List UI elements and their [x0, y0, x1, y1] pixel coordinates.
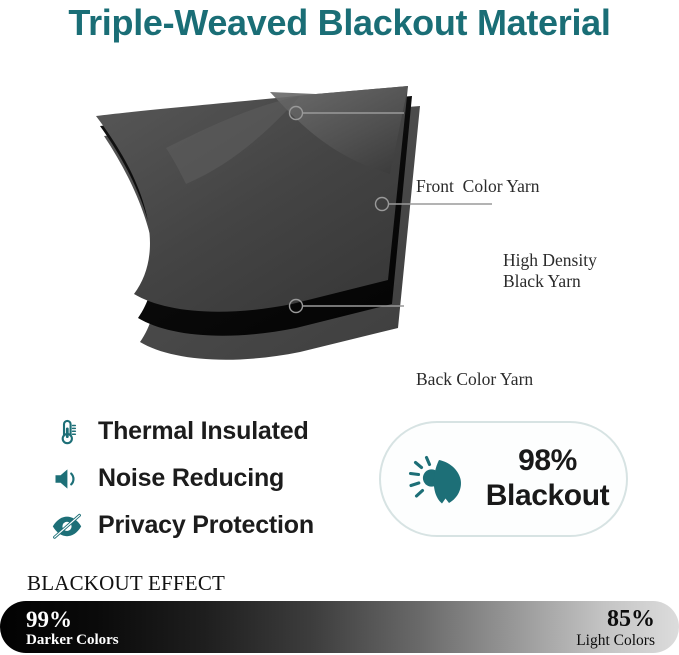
blackout-effect-gradient-bar: 99% Darker Colors 85% Light Colors: [0, 601, 679, 653]
badge-label: Blackout: [486, 479, 610, 512]
fabric-layers-diagram: Front Color Yarn High Density Black Yarn…: [0, 70, 679, 360]
diagram-label-high-density: High Density Black Yarn: [503, 250, 597, 293]
feature-label-noise-reducing: Noise Reducing: [98, 464, 284, 493]
gradient-left-callout: 99% Darker Colors: [26, 608, 119, 649]
badge-percent: 98%: [518, 444, 577, 477]
gradient-right-callout: 85% Light Colors: [576, 607, 655, 649]
feature-list: Thermal Insulated Noise Reducing Privacy…: [48, 408, 358, 549]
feature-label-privacy-protection: Privacy Protection: [98, 511, 314, 540]
thermometer-icon: [48, 413, 86, 451]
blackout-badge: 98% Blackout: [379, 421, 628, 537]
page-title: Triple-Weaved Blackout Material: [0, 2, 679, 44]
diagram-label-front: Front Color Yarn: [416, 176, 540, 197]
front-color-yarn-layer: [96, 86, 408, 312]
feature-privacy-protection: Privacy Protection: [48, 502, 358, 549]
feature-noise-reducing: Noise Reducing: [48, 455, 358, 502]
gradient-left-percent: 99%: [26, 608, 119, 632]
speaker-icon: [48, 460, 86, 498]
diagram-label-back: Back Color Yarn: [416, 369, 533, 390]
gradient-right-label: Light Colors: [576, 632, 655, 649]
sun-blocked-icon: [399, 440, 477, 518]
blackout-effect-heading: BLACKOUT EFFECT: [27, 571, 225, 596]
badge-text: 98% Blackout: [477, 444, 626, 514]
eye-slash-icon: [48, 507, 86, 545]
gradient-right-percent: 85%: [576, 607, 655, 632]
feature-thermal-insulated: Thermal Insulated: [48, 408, 358, 455]
gradient-left-label: Darker Colors: [26, 632, 119, 649]
feature-label-thermal-insulated: Thermal Insulated: [98, 417, 309, 446]
